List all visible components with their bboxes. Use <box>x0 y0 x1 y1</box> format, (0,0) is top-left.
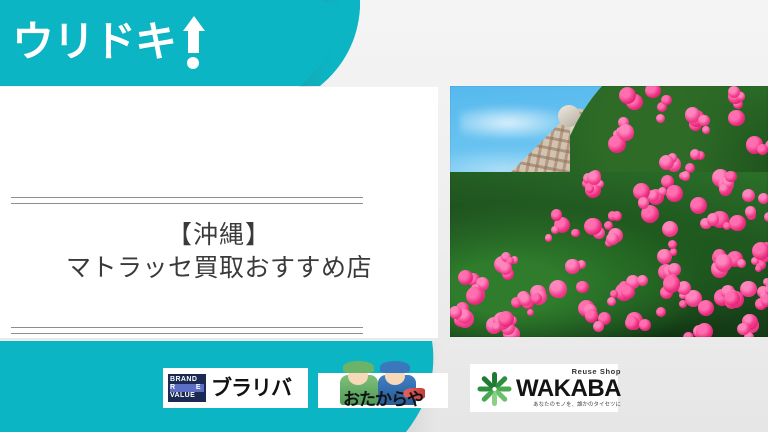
badge-line-2: R E <box>170 384 204 392</box>
headline-line-2: マトラッセ買取おすすめ店 <box>0 252 438 285</box>
green-leaf-burst-icon <box>477 371 511 405</box>
wakaba-tagline: あなたのモノを、誰かのタイセツに <box>533 403 621 408</box>
buraliba-wordmark: ブラリバ <box>211 378 291 399</box>
headline-line-1: 【沖縄】 <box>0 219 438 252</box>
badge-line-2-right: E <box>196 384 201 392</box>
badge-line-2-left: R <box>170 384 175 392</box>
brand-logo[interactable]: ウリドキ <box>12 16 209 68</box>
hero-photo <box>450 86 768 337</box>
partner-logo-otakaraya[interactable]: おたからや <box>318 373 448 408</box>
brand-value-badge: BRAND R E VALUE <box>168 374 206 402</box>
divider-top <box>11 197 363 204</box>
brand-name: ウリドキ <box>12 21 176 63</box>
partner-logo-wakaba[interactable]: Reuse Shop WAKABA あなたのモノを、誰かのタイセツに <box>470 364 618 412</box>
divider-bottom <box>11 327 363 334</box>
badge-line-1: BRAND <box>170 376 206 384</box>
page-title: 【沖縄】 マトラッセ買取おすすめ店 <box>0 219 438 285</box>
partner-logo-brand-value[interactable]: BRAND R E VALUE ブラリバ <box>163 368 308 408</box>
wakaba-text-block: Reuse Shop WAKABA あなたのモノを、誰かのタイセツに <box>516 368 621 408</box>
title-card: 【沖縄】 マトラッセ買取おすすめ店 高価買取のポイントも <box>0 87 438 338</box>
up-arrow-exclamation-icon <box>179 16 209 68</box>
slide-canvas: ウリドキ 【沖縄】 マトラッセ買取おすすめ店 高価買取のポイントも BRAND <box>0 0 768 432</box>
otakaraya-wordmark: おたからや <box>318 385 448 410</box>
wakaba-wordmark: WAKABA <box>516 377 621 401</box>
badge-line-3: VALUE <box>170 392 206 400</box>
